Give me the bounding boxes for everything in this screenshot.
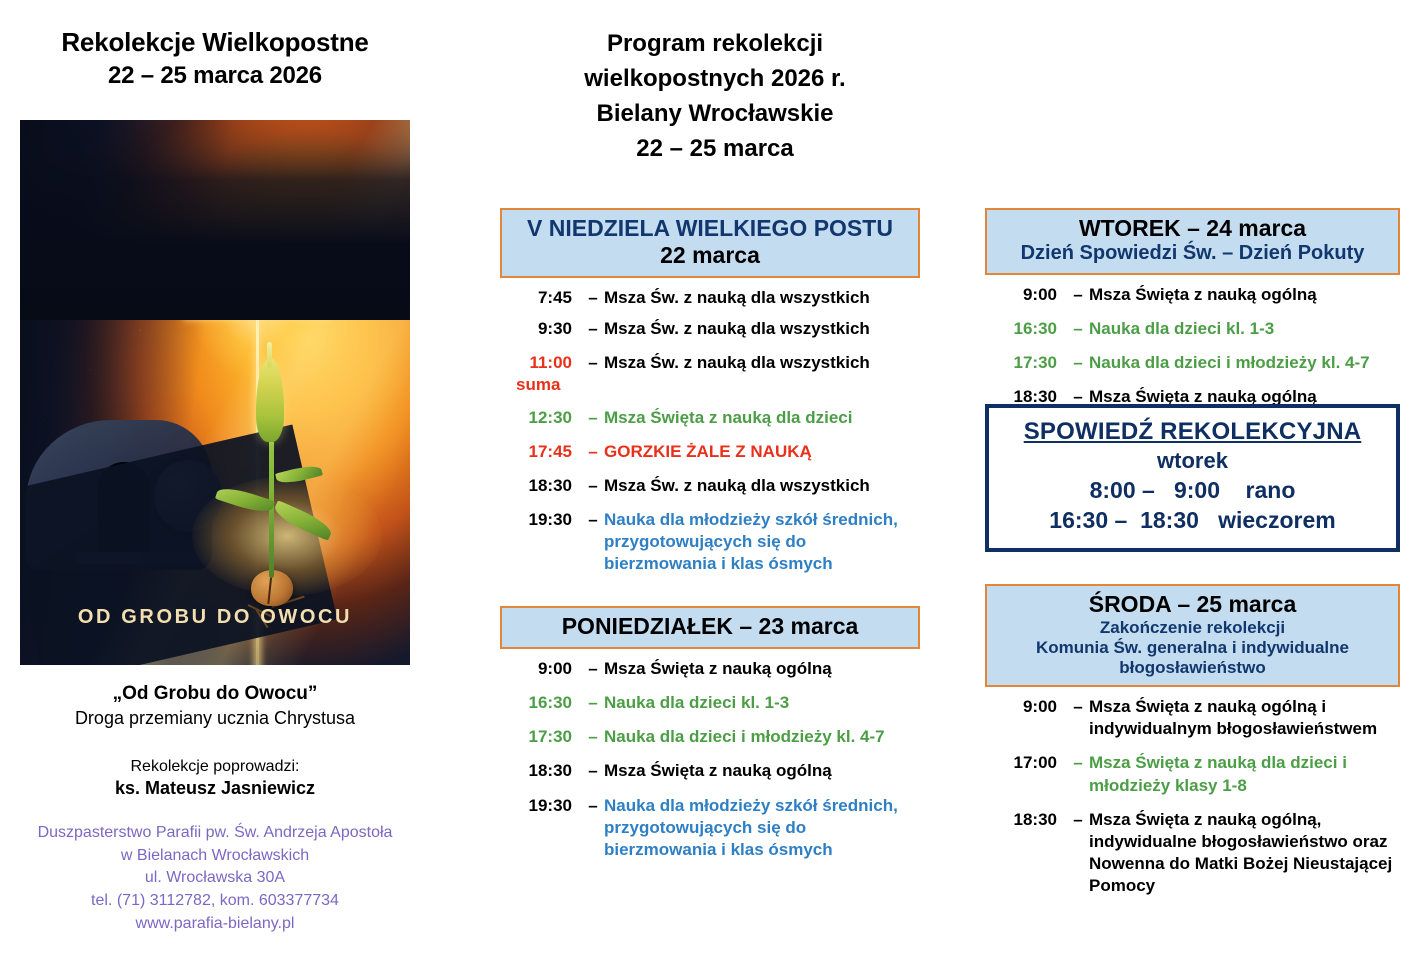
event-row: 18:30 – Msza Św. z nauką dla wszystkich <box>500 475 920 497</box>
event-row: 11:00 – Msza Św. z nauką dla wszystkich <box>500 352 920 374</box>
event-time: 16:30 <box>985 318 1067 340</box>
confession-title: SPOWIEDŹ REKOLEKCYJNA <box>997 418 1388 446</box>
event-time: 17:45 <box>500 441 582 463</box>
event-time: 17:30 <box>985 352 1067 374</box>
event-text: GORZKIE ŻALE Z NAUKĄ <box>604 441 920 463</box>
day-header-monday-title: PONIEDZIAŁEK – 23 marca <box>508 613 912 640</box>
program-heading: Program rekolekcji wielkopostnych 2026 r… <box>500 26 930 166</box>
event-text: Msza Święta z nauką dla dzieci i młodzie… <box>1089 752 1400 796</box>
retreat-motto-block: „Od Grobu do Owocu” Droga przemiany uczn… <box>0 682 430 730</box>
event-dash: – <box>582 509 604 531</box>
event-row: 18:30 – Msza Święta z nauką ogólną <box>500 760 920 782</box>
left-column: Rekolekcje Wielkopostne 22 – 25 marca 20… <box>0 0 430 953</box>
events-monday: 9:00 – Msza Święta z nauką ogólną 16:30 … <box>500 658 920 861</box>
event-dash: – <box>582 692 604 714</box>
retreat-leader-name: ks. Mateusz Jasniewicz <box>0 777 430 801</box>
event-dash: – <box>582 352 604 374</box>
confession-box: SPOWIEDŹ REKOLEKCYJNA wtorek 8:00 – 9:00… <box>985 404 1400 552</box>
artwork-ground-shadow <box>20 120 410 320</box>
day-header-wednesday-subtitle3: błogosławieństwo <box>993 658 1392 678</box>
day-header-wednesday-subtitle1: Zakończenie rekolekcji <box>993 618 1392 638</box>
event-dash: – <box>582 407 604 429</box>
event-text: Msza Święta z nauką ogólną, indywidualne… <box>1089 809 1400 897</box>
event-dash: – <box>1067 809 1089 831</box>
event-row: 9:30 – Msza Św. z nauką dla wszystkich <box>500 318 920 340</box>
day-header-sunday-date: 22 marca <box>508 242 912 269</box>
event-text: Nauka dla młodzieży szkół średnich, przy… <box>604 509 920 575</box>
parish-phone: tel. (71) 3112782, kom. 603377734 <box>0 890 430 913</box>
parish-contact-block: Duszpasterstwo Parafii pw. Św. Andrzeja … <box>0 822 430 936</box>
event-time: 19:30 <box>500 795 582 817</box>
retreat-poster-artwork: OD GROBU DO OWOCU <box>20 120 410 665</box>
event-row: 9:00 – Msza Święta z nauką ogólną <box>985 284 1400 306</box>
event-row: 18:30 – Msza Święta z nauką ogólną, indy… <box>985 809 1400 897</box>
day-header-wednesday-title: ŚRODA – 25 marca <box>993 591 1392 618</box>
confession-hours-evening: 16:30 – 18:30 wieczorem <box>997 507 1388 534</box>
day-block-wednesday: ŚRODA – 25 marca Zakończenie rekolekcji … <box>985 584 1400 909</box>
events-tuesday: 9:00 – Msza Święta z nauką ogólną 16:30 … <box>985 284 1400 408</box>
day-block-monday: PONIEDZIAŁEK – 23 marca 9:00 – Msza Świę… <box>500 606 920 873</box>
event-text: Nauka dla młodzieży szkół średnich, przy… <box>604 795 920 861</box>
event-dash: – <box>1067 696 1089 718</box>
event-text: Nauka dla dzieci kl. 1-3 <box>604 692 920 714</box>
event-time: 12:30 <box>500 407 582 429</box>
day-header-sunday-title: V NIEDZIELA WIELKIEGO POSTU <box>508 215 912 242</box>
events-sunday: 7:45 – Msza Św. z nauką dla wszystkich 9… <box>500 287 920 575</box>
event-dash: – <box>1067 352 1089 374</box>
day-header-wednesday: ŚRODA – 25 marca Zakończenie rekolekcji … <box>985 584 1400 687</box>
event-dash: – <box>1067 752 1089 774</box>
event-row: 19:30 – Nauka dla młodzieży szkół średni… <box>500 795 920 861</box>
day-block-tuesday: WTOREK – 24 marca Dzień Spowiedzi Św. – … <box>985 208 1400 420</box>
event-dash: – <box>582 726 604 748</box>
program-heading-line4: 22 – 25 marca <box>500 131 930 166</box>
event-row: 17:00 – Msza Święta z nauką dla dzieci i… <box>985 752 1400 796</box>
event-time: 9:00 <box>985 284 1067 306</box>
event-row: 7:45 – Msza Św. z nauką dla wszystkich <box>500 287 920 309</box>
day-block-sunday: V NIEDZIELA WIELKIEGO POSTU 22 marca 7:4… <box>500 208 920 587</box>
parish-website[interactable]: www.parafia-bielany.pl <box>0 913 430 936</box>
program-heading-line2: wielkopostnych 2026 r. <box>500 61 930 96</box>
confession-day: wtorek <box>997 448 1388 474</box>
wheat-ear-tip <box>267 342 272 368</box>
poster-title-line1: Rekolekcje Wielkopostne <box>0 26 430 60</box>
event-row: 9:00 – Msza Święta z nauką ogólną <box>500 658 920 680</box>
confession-hours-morning: 8:00 – 9:00 rano <box>997 477 1388 504</box>
event-dash: – <box>582 318 604 340</box>
artwork-caption: OD GROBU DO OWOCU <box>20 606 410 629</box>
event-time: 19:30 <box>500 509 582 531</box>
poster-title: Rekolekcje Wielkopostne 22 – 25 marca 20… <box>0 0 430 91</box>
event-text: Msza Święta z nauką ogólną <box>604 658 920 680</box>
event-row: 17:45 – GORZKIE ŻALE Z NAUKĄ <box>500 441 920 463</box>
event-time: 18:30 <box>500 475 582 497</box>
event-text: Msza Święta z nauką ogólną <box>604 760 920 782</box>
event-note-suma: suma <box>500 375 920 395</box>
event-text: Msza Św. z nauką dla wszystkich <box>604 475 920 497</box>
event-text: Msza Święta z nauką ogólną i indywidualn… <box>1089 696 1400 740</box>
event-dash: – <box>582 658 604 680</box>
event-text: Msza Święta z nauką ogólną <box>1089 284 1400 306</box>
day-header-sunday: V NIEDZIELA WIELKIEGO POSTU 22 marca <box>500 208 920 278</box>
event-text: Nauka dla dzieci i młodzieży kl. 4-7 <box>604 726 920 748</box>
day-header-tuesday-subtitle: Dzień Spowiedzi Św. – Dzień Pokuty <box>993 242 1392 266</box>
event-dash: – <box>1067 318 1089 340</box>
poster-title-line2: 22 – 25 marca 2026 <box>0 60 430 91</box>
program-heading-line3: Bielany Wrocławskie <box>500 96 930 131</box>
event-row: 12:30 – Msza Święta z nauką dla dzieci <box>500 407 920 429</box>
event-time: 16:30 <box>500 692 582 714</box>
event-time: 11:00 <box>500 352 582 374</box>
parish-street: ul. Wrocławska 30A <box>0 867 430 890</box>
retreat-motto-subtitle: Droga przemiany ucznia Chrystusa <box>0 707 430 730</box>
day-header-tuesday: WTOREK – 24 marca Dzień Spowiedzi Św. – … <box>985 208 1400 275</box>
parish-name: Duszpasterstwo Parafii pw. Św. Andrzeja … <box>0 822 430 845</box>
event-row: 17:30 – Nauka dla dzieci i młodzieży kl.… <box>985 352 1400 374</box>
event-row: 16:30 – Nauka dla dzieci kl. 1-3 <box>985 318 1400 340</box>
event-dash: – <box>582 287 604 309</box>
event-time: 17:30 <box>500 726 582 748</box>
event-text: Nauka dla dzieci i młodzieży kl. 4-7 <box>1089 352 1400 374</box>
program-heading-line1: Program rekolekcji <box>500 26 930 61</box>
retreat-leader-intro: Rekolekcje poprowadzi: <box>0 756 430 777</box>
event-time: 17:00 <box>985 752 1067 774</box>
event-row: 17:30 – Nauka dla dzieci i młodzieży kl.… <box>500 726 920 748</box>
parish-location: w Bielanach Wrocławskich <box>0 845 430 868</box>
event-text: Nauka dla dzieci kl. 1-3 <box>1089 318 1400 340</box>
retreat-leader-block: Rekolekcje poprowadzi: ks. Mateusz Jasni… <box>0 756 430 801</box>
event-text: Msza Św. z nauką dla wszystkich <box>604 318 920 340</box>
events-wednesday: 9:00 – Msza Święta z nauką ogólną i indy… <box>985 696 1400 897</box>
event-time: 18:30 <box>500 760 582 782</box>
event-row: 16:30 – Nauka dla dzieci kl. 1-3 <box>500 692 920 714</box>
event-dash: – <box>582 795 604 817</box>
event-time: 7:45 <box>500 287 582 309</box>
event-row: 19:30 – Nauka dla młodzieży szkół średni… <box>500 509 920 575</box>
event-dash: – <box>582 441 604 463</box>
event-time: 9:30 <box>500 318 582 340</box>
event-dash: – <box>582 475 604 497</box>
day-header-tuesday-title: WTOREK – 24 marca <box>993 215 1392 242</box>
event-text: Msza Święta z nauką dla dzieci <box>604 407 920 429</box>
event-dash: – <box>1067 284 1089 306</box>
event-time: 18:30 <box>985 809 1067 831</box>
event-time: 9:00 <box>500 658 582 680</box>
day-block-confession: SPOWIEDŹ REKOLEKCYJNA wtorek 8:00 – 9:00… <box>985 404 1400 552</box>
event-time: 9:00 <box>985 696 1067 718</box>
event-text: Msza Św. z nauką dla wszystkich <box>604 287 920 309</box>
event-row: 9:00 – Msza Święta z nauką ogólną i indy… <box>985 696 1400 740</box>
event-text: Msza Św. z nauką dla wszystkich <box>604 352 920 374</box>
retreat-motto: „Od Grobu do Owocu” <box>0 682 430 707</box>
day-header-wednesday-subtitle2: Komunia Św. generalna i indywidualne <box>993 638 1392 658</box>
event-dash: – <box>582 760 604 782</box>
day-header-monday: PONIEDZIAŁEK – 23 marca <box>500 606 920 649</box>
